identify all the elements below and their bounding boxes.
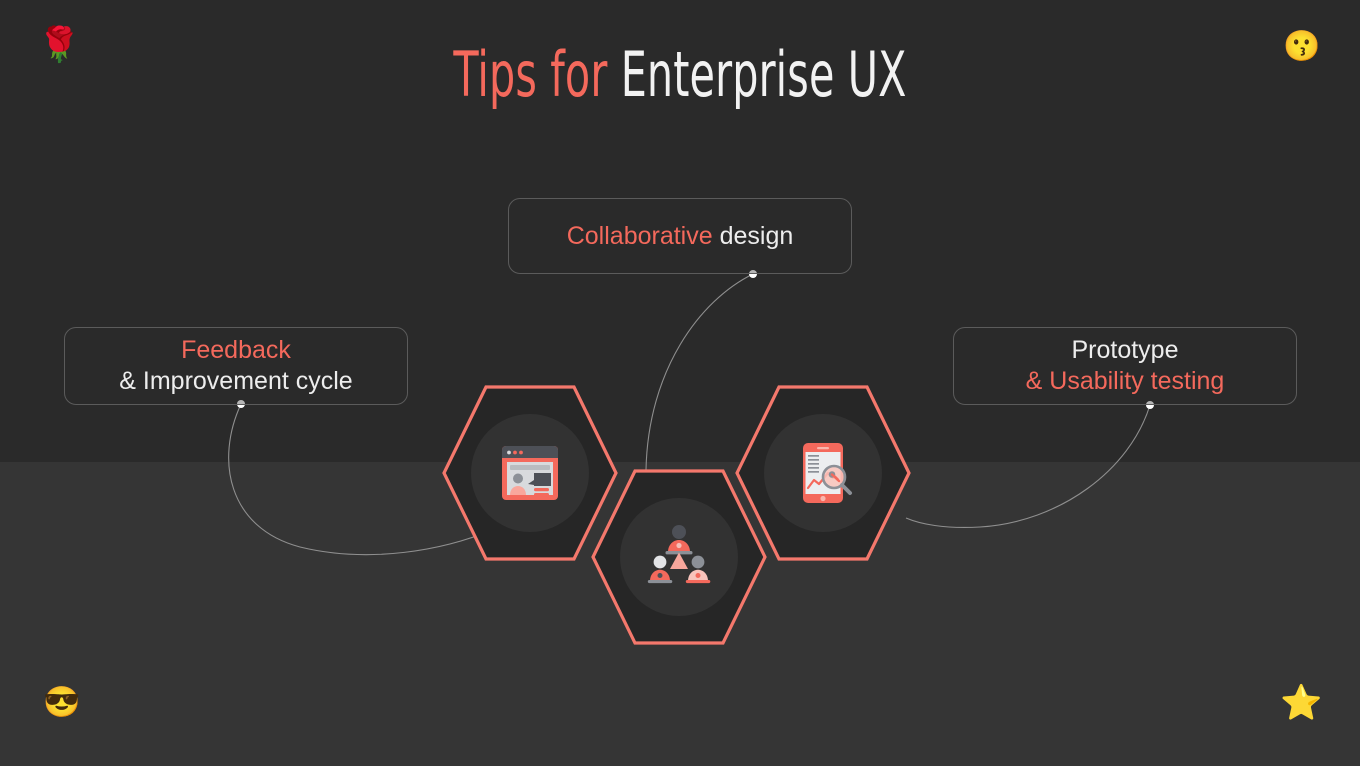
card-prototype-usability[interactable]: Prototype & Usability testing — [953, 327, 1297, 405]
card-text: Collaborative design — [567, 221, 794, 252]
card-prototype-plain: Prototype — [1026, 335, 1225, 366]
card-collaborative-plain: design — [713, 222, 794, 250]
slide-canvas: Tips for Enterprise UX 🌹 😗 😎 ⭐ — [0, 0, 1360, 766]
kissing-face-icon: 😗 — [1283, 32, 1320, 62]
card-text: Prototype & Usability testing — [1026, 335, 1225, 397]
card-prototype-accent: & Usability testing — [1026, 366, 1225, 397]
card-collaborative-design[interactable]: Collaborative design — [508, 198, 852, 274]
card-feedback-plain: & Improvement cycle — [119, 366, 352, 397]
star-icon: ⭐ — [1280, 686, 1322, 720]
card-feedback-accent: Feedback — [119, 335, 352, 366]
page-title-plain: Enterprise UX — [621, 38, 907, 111]
card-collaborative-accent: Collaborative — [567, 222, 713, 250]
card-text: Feedback & Improvement cycle — [119, 335, 352, 397]
rose-icon: 🌹 — [38, 28, 80, 62]
browser-window-icon — [491, 434, 569, 512]
team-collaboration-icon — [640, 518, 718, 596]
page-title-accent: Tips for — [453, 38, 607, 111]
card-feedback-improvement[interactable]: Feedback & Improvement cycle — [64, 327, 408, 405]
hexagon-testing[interactable] — [735, 385, 911, 561]
sunglasses-face-icon: 😎 — [43, 688, 80, 718]
page-title: Tips for Enterprise UX — [177, 38, 1183, 111]
mobile-analytics-search-icon — [784, 434, 862, 512]
